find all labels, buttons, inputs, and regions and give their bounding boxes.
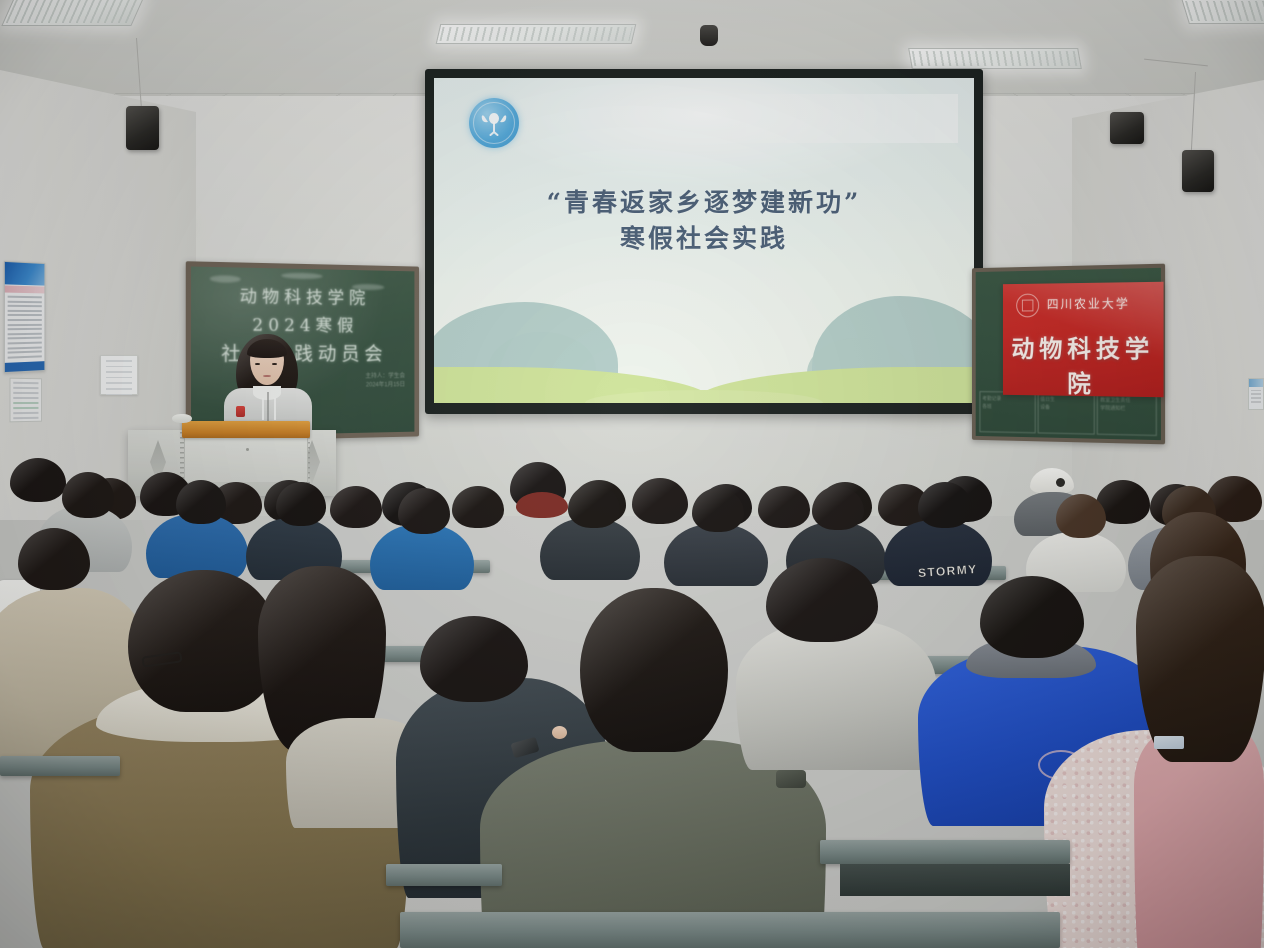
audience-head-far-6 <box>330 486 382 528</box>
audience-head-near-1 <box>18 528 90 590</box>
audience-hood-red <box>516 492 568 518</box>
audience-head-far-13 <box>758 486 810 528</box>
audience-head-mid-3 <box>276 482 326 526</box>
wall-notice-right <box>1248 378 1264 410</box>
audience-body-light-hoodie <box>736 620 936 770</box>
red-banner: 四川农业大学 动物科技学院 <box>1003 282 1164 398</box>
water-cup <box>172 414 192 423</box>
audience-head-far-11 <box>632 478 688 524</box>
audience-head-mid-9 <box>1056 494 1106 538</box>
wall-notice-white <box>100 355 138 395</box>
audience-head-far-8 <box>452 486 504 528</box>
projector-screen: “青春返家乡逐梦建新功” 寒假社会实践 <box>425 69 983 414</box>
wall-speaker-right-lower <box>1182 150 1214 192</box>
projector-screen-surface: “青春返家乡逐梦建新功” 寒假社会实践 <box>434 78 974 403</box>
notice-right-header <box>1249 379 1263 387</box>
audience-head-mid-4 <box>398 488 450 534</box>
hand-holding-phone <box>552 726 567 739</box>
audience-head-mid-1 <box>62 472 114 518</box>
desk-row-front-1 <box>0 756 120 776</box>
blackboard-right-grid: 考勤记录 各班 值日生 设备 教室卫生责任 学院通知栏 <box>979 391 1156 436</box>
audience-head-near-4 <box>580 588 728 752</box>
university-emblem-icon <box>469 98 519 148</box>
presenter-badge <box>236 406 245 417</box>
hoodie-string-left <box>262 398 264 420</box>
audience-body-stormy: STORMY <box>884 520 992 586</box>
audience-head-mid-2 <box>176 480 226 524</box>
blackboard-date-line-1: 主持人：学生会 <box>317 372 405 381</box>
audience-head-far-1 <box>10 458 66 502</box>
banner-college-name: 动物科技学院 <box>1003 329 1164 397</box>
blackboard-date-line-2: 2024年1月15日 <box>317 381 405 391</box>
board-cell-3: 教室卫生责任 学院通知栏 <box>1097 392 1157 436</box>
audience-head-near-7 <box>1136 556 1264 762</box>
poster-header-band <box>5 262 45 286</box>
bag-strap-clip <box>776 770 806 788</box>
wall-speaker-left <box>126 106 159 150</box>
blackboard-date-note: 主持人：学生会 2024年1月15日 <box>317 372 405 390</box>
projector-highlight-band <box>699 94 958 143</box>
ceiling-light-3 <box>908 48 1082 69</box>
wall-speaker-right-upper <box>1110 112 1144 144</box>
notice-poster-small <box>10 378 42 423</box>
audience-head-mid-8 <box>918 482 972 528</box>
ceiling-sensor <box>700 25 718 46</box>
slide-title-line-2: 寒假社会实践 <box>434 221 974 257</box>
cap-logo-icon <box>1056 478 1065 487</box>
desk-row-front-3 <box>820 840 1070 864</box>
jacket-brand-text: STORMY <box>918 562 978 580</box>
poster-text-rows <box>5 293 45 365</box>
notice-poster-blue <box>4 261 45 373</box>
audience-body-dark-3 <box>664 524 768 586</box>
slide-title-line-1: “青春返家乡逐梦建新功” <box>434 185 974 221</box>
classroom-photo: “青春返家乡逐梦建新功” 寒假社会实践 动物科技学院 2024寒假 社会实践动员… <box>0 0 1264 948</box>
audience-area: STORMY <box>0 440 1264 948</box>
audience-head-mid-5 <box>568 484 620 528</box>
board-cell-2: 值日生 设备 <box>1037 392 1095 435</box>
slide-title-block: “青春返家乡逐梦建新功” 寒假社会实践 <box>434 185 974 256</box>
hoodie-string-right <box>274 398 276 420</box>
ceiling-light-1 <box>1 0 144 26</box>
board-cell-1: 考勤记录 各班 <box>979 391 1035 433</box>
student-id-lanyard <box>1154 736 1184 749</box>
desk-shadow-front <box>840 864 1070 896</box>
university-seal-icon <box>1016 294 1039 318</box>
audience-head-mid-7 <box>812 486 864 530</box>
white-baseball-cap <box>1030 468 1074 494</box>
audience-head-near-3 <box>420 616 528 702</box>
ceiling-light-2 <box>436 24 637 44</box>
blackboard-line-1: 动物科技学院 <box>191 281 414 309</box>
banner-university-name: 四川农业大学 <box>1047 294 1155 312</box>
desk-row-front-2 <box>386 864 502 886</box>
poster-footer-band <box>5 361 45 372</box>
emblem-glyph <box>479 110 509 136</box>
desk-row-front-4 <box>400 912 1060 948</box>
pink-fleece-shoulder <box>1134 730 1264 948</box>
audience-head-mid-6 <box>692 488 744 532</box>
podium-desktop <box>182 421 310 438</box>
ceiling-light-4 <box>1181 0 1264 24</box>
